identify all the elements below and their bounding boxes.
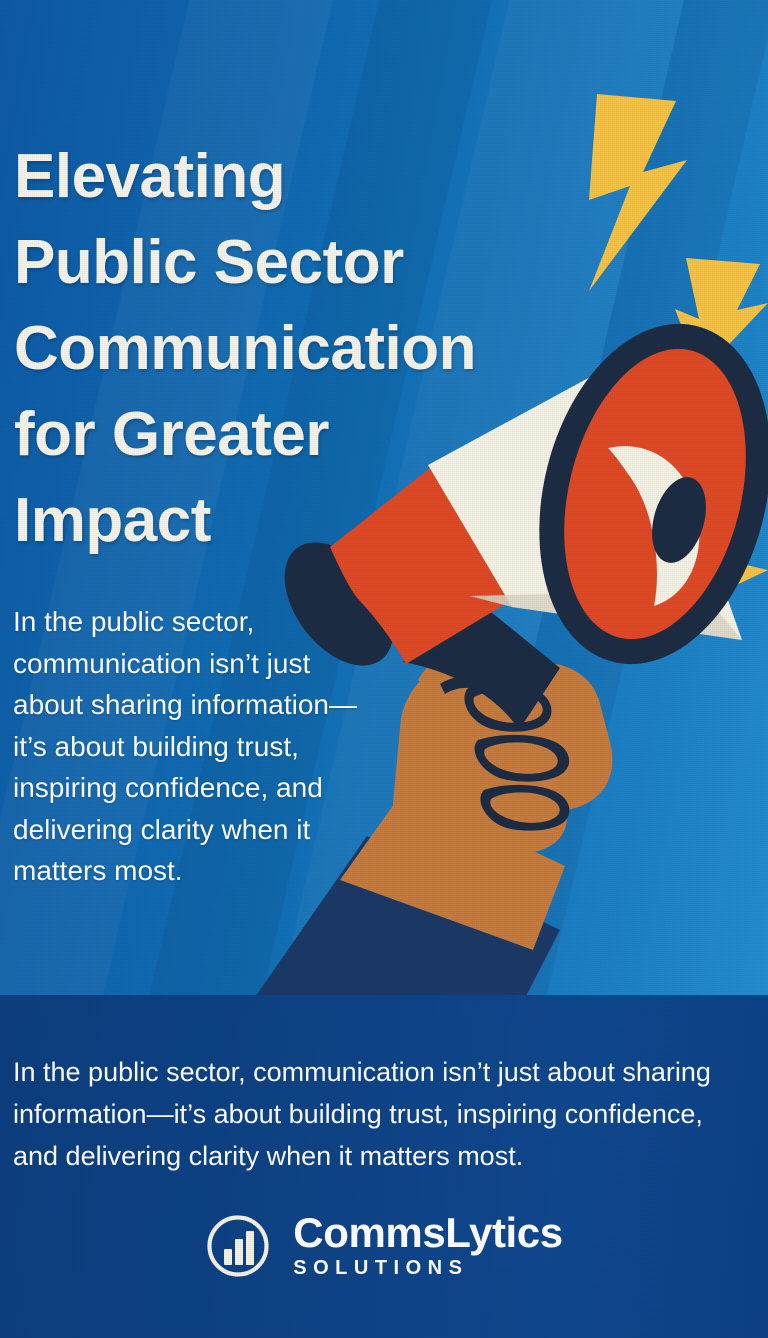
logo-wordmark: CommsLytics SOLUTIONS	[293, 1211, 562, 1280]
hero-body-text: In the public sector, communication isn’…	[13, 601, 385, 892]
title-line: for Greater	[14, 392, 654, 478]
brand-logo[interactable]: CommsLytics SOLUTIONS	[0, 1211, 768, 1280]
poster-canvas: Elevating Public Sector Communication fo…	[0, 0, 768, 1338]
title-line: Impact	[14, 478, 654, 564]
logo-name: CommsLytics	[293, 1211, 562, 1255]
footer-caption: In the public sector, communication isn’…	[13, 1051, 713, 1177]
footer-band: In the public sector, communication isn’…	[0, 995, 768, 1338]
logo-subtitle: SOLUTIONS	[293, 1256, 562, 1280]
title-line: Communication	[14, 306, 654, 392]
bar-chart-circle-icon	[205, 1213, 271, 1279]
title-line: Public Sector	[14, 220, 654, 306]
page-title: Elevating Public Sector Communication fo…	[14, 134, 654, 564]
title-line: Elevating	[14, 134, 654, 220]
